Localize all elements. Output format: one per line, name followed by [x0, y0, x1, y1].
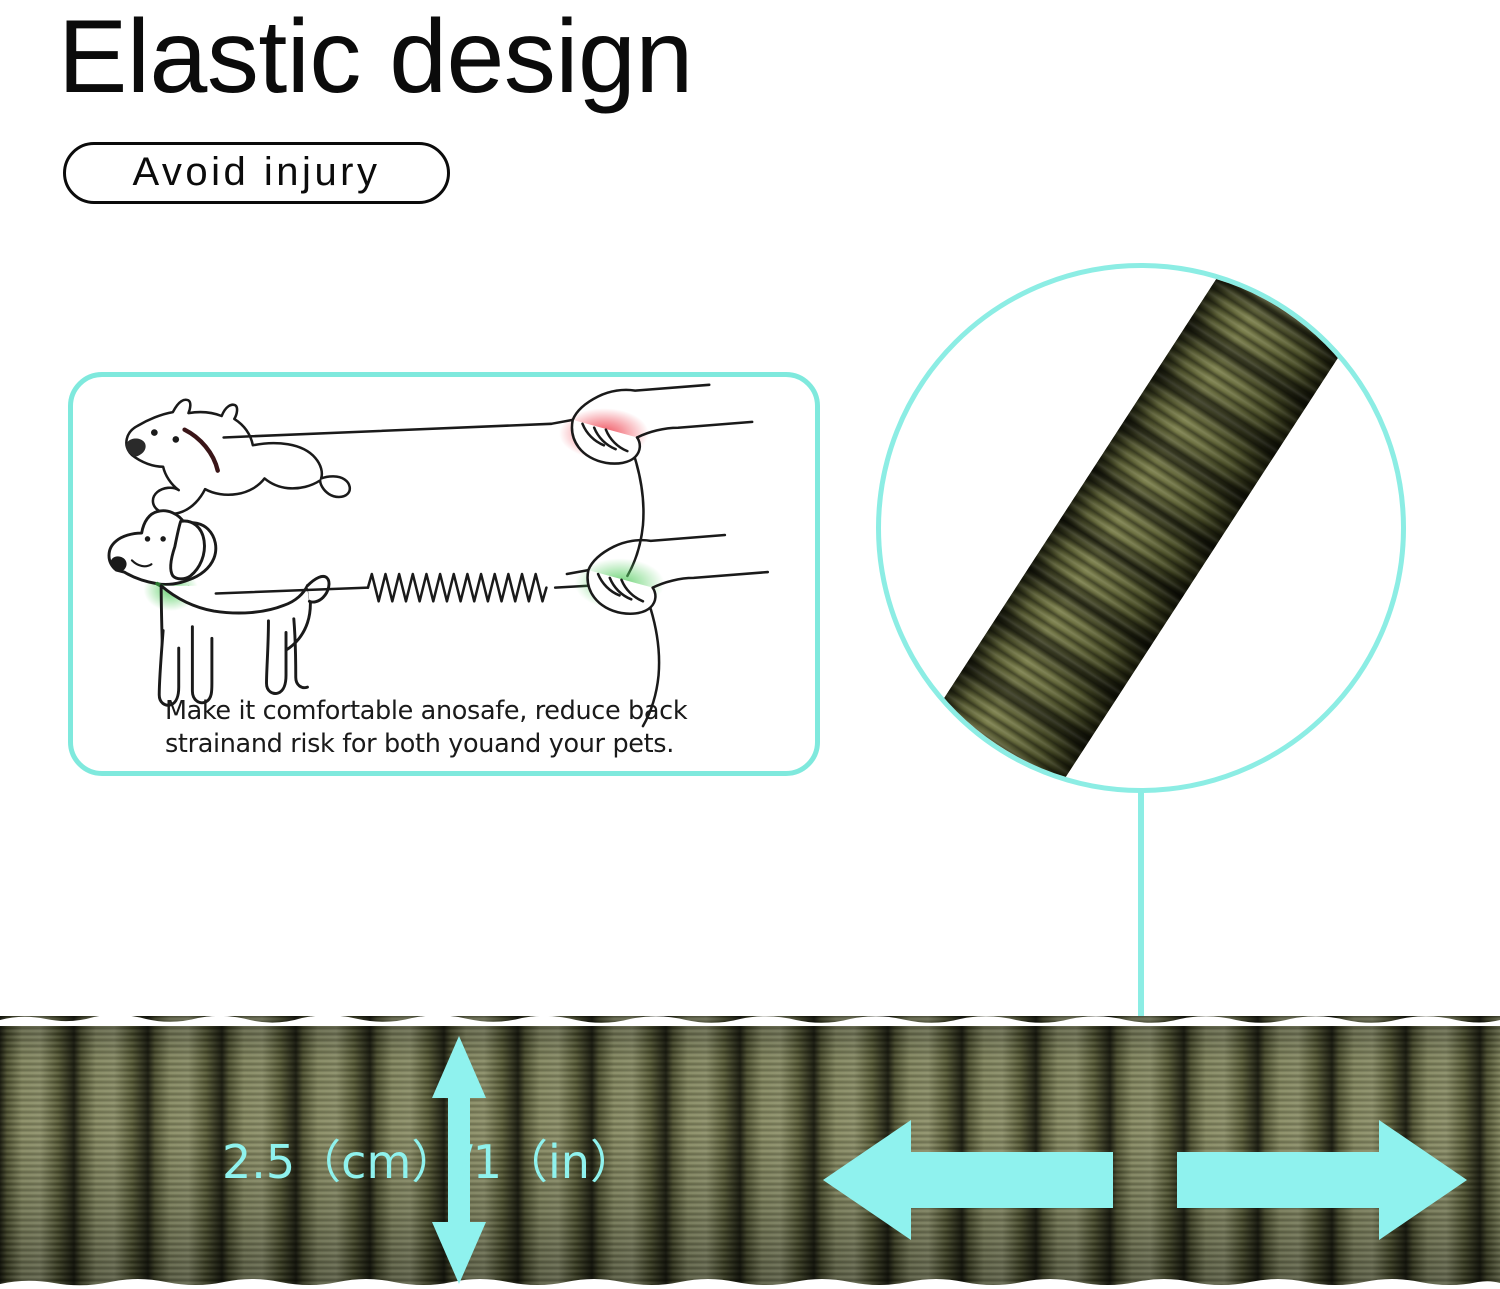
- width-measurement-label: 2.5（cm）/1（in）: [222, 1126, 636, 1192]
- avoid-injury-badge: Avoid injury: [63, 142, 450, 204]
- running-dog-sketch: [126, 400, 350, 514]
- rigid-leash-line: [224, 424, 552, 438]
- scene-without-elastic: [126, 385, 752, 576]
- calm-dog-sketch: [109, 511, 329, 705]
- product-infographic: Elastic design Avoid injury: [0, 0, 1500, 1289]
- avoid-injury-badge-label: Avoid injury: [132, 150, 380, 195]
- illustration-card: Make it comfortable anosafe, reduce back…: [68, 372, 820, 776]
- webbing-closeup-image: [910, 263, 1372, 793]
- stretch-arrow-right-icon: [1177, 1112, 1467, 1249]
- webbing-top-edge: [0, 1010, 1500, 1026]
- magnifier-ring: [876, 263, 1406, 793]
- scene-with-elastic: [109, 511, 768, 726]
- page-title: Elastic design: [58, 0, 693, 119]
- webbing-bottom-edge: [0, 1275, 1500, 1289]
- spring-coil-icon: [368, 574, 546, 601]
- stretch-arrow-left-icon: [823, 1112, 1113, 1249]
- illustration-caption: Make it comfortable anosafe, reduce back…: [165, 695, 745, 760]
- product-closeup-magnifier: [876, 263, 1406, 793]
